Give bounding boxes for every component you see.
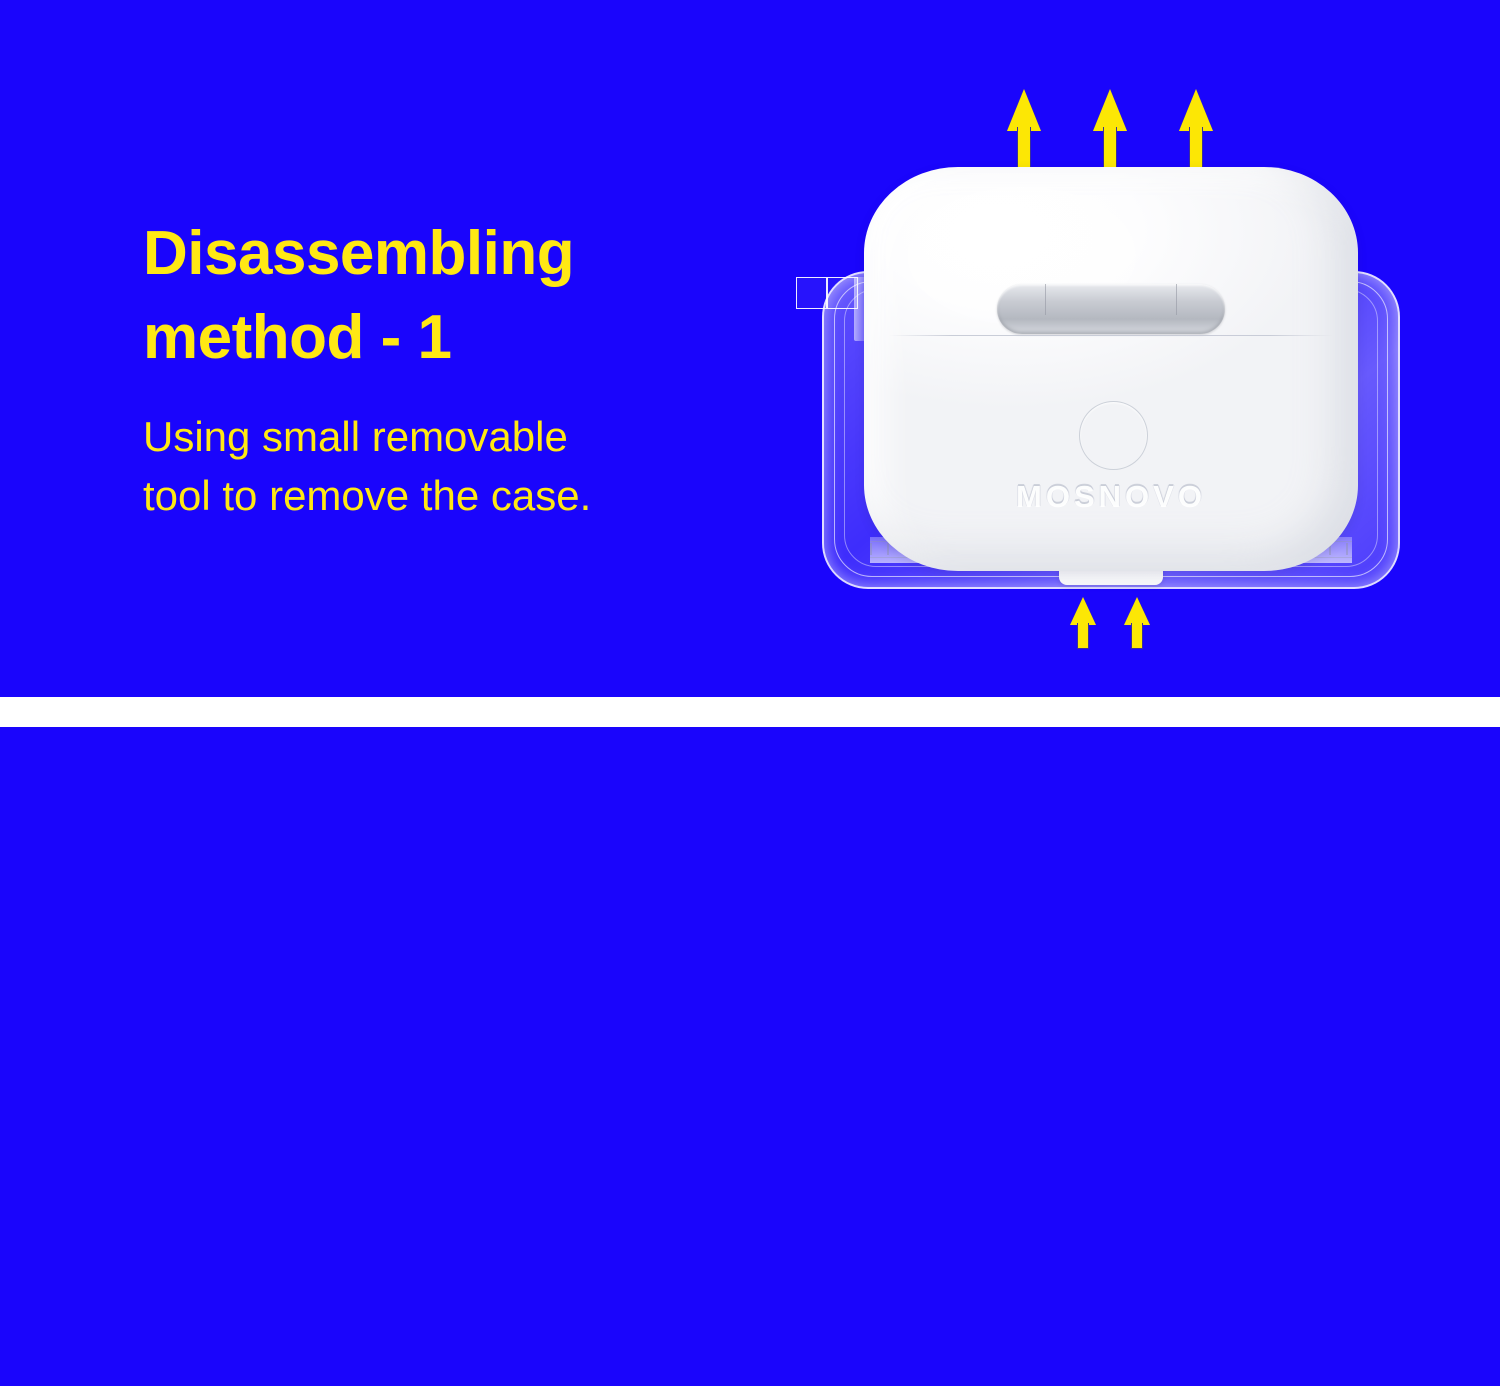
headline-method-1: Disassembling method - 1 <box>143 212 783 381</box>
panel-method-1: Disassembling method - 1 Using small rem… <box>0 0 1500 697</box>
case-lid-seam <box>889 335 1334 337</box>
case-hinge-clip <box>997 284 1224 334</box>
subtext-method-1: Using small removable tool to remove the… <box>143 381 783 526</box>
removable-tool-tab <box>796 277 858 309</box>
brand-emboss: MOSNOVO <box>864 478 1358 514</box>
panel-divider <box>0 697 1500 727</box>
arrow-up-small-icon <box>1070 597 1096 649</box>
arrow-up-small-icon <box>1124 597 1150 649</box>
text-block-method-1: Disassembling method - 1 Using small rem… <box>143 212 783 526</box>
product-illustration-method-1: MOSNOVO <box>790 75 1430 655</box>
arrows-up-bottom-group <box>790 597 1430 649</box>
pairing-button-indent <box>1079 401 1148 470</box>
airpods-case-body: MOSNOVO <box>864 167 1358 571</box>
instruction-graphic: Disassembling method - 1 Using small rem… <box>0 0 1500 1386</box>
panel-method-2: Disassembling method - 2 Using charging … <box>0 727 1500 1386</box>
